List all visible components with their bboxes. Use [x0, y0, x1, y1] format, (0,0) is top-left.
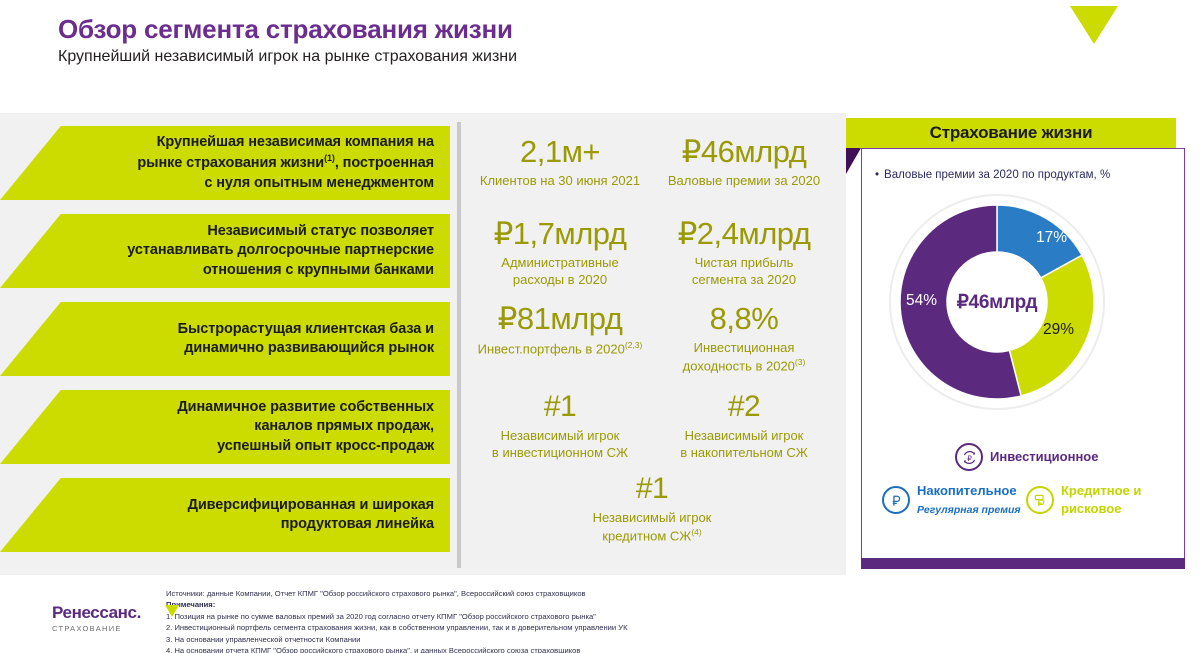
legend-credit-text: Кредитное и рисковое [1061, 482, 1141, 518]
credit-risk-icon [1026, 486, 1054, 514]
legend-savings-sublabel: Регулярная премия [917, 504, 1021, 516]
stat-investment-yield-label: Инвестиционнаядоходность в 2020(3) [654, 340, 834, 375]
stat-rank-investment-value: #1 [470, 392, 650, 422]
banner-4-line-2: каналов прямых продаж, [254, 418, 434, 434]
banner-4-line-1: Динамичное развитие собственных [177, 399, 434, 415]
stat-admin-expenses-label: Административныерасходы в 2020 [470, 255, 650, 288]
page-subtitle: Крупнейший независимый игрок на рынке ст… [58, 48, 517, 66]
stat-admin-expenses-value: ₽1,7млрд [470, 218, 650, 249]
legend-savings-text: Накопительное Регулярная премия [917, 482, 1021, 518]
banner-1-line-2: рынке страхования жизни [137, 155, 324, 171]
svg-text:₽: ₽ [967, 453, 972, 462]
stat-net-profit-value: ₽2,4млрд [654, 218, 834, 249]
banner-3-line-2: динамично развивающийся рынок [184, 340, 434, 356]
stat-investment-portfolio: ₽81млрд Инвест.портфель в 2020(2,3) [470, 303, 650, 358]
footnote-item-1: 1. Позиция на рынке по сумме валовых пре… [166, 611, 1066, 622]
bullet-dot-icon: • [875, 169, 879, 181]
card-fold-decoration [846, 148, 861, 174]
stat-clients: 2,1м+ Клиентов на 30 июня 2021 [470, 136, 650, 190]
banner-2-line-1: Независимый статус позволяет [207, 223, 434, 239]
stat-rank-savings-value: #2 [654, 392, 834, 422]
donut-label-credit: 29% [1043, 321, 1074, 339]
chart-bullet-label: •Валовые премии за 2020 по продуктам, % [875, 169, 1110, 181]
banner-2-line-2: устанавливать долгосрочные партнерские [127, 242, 434, 258]
legend-item-savings: Накопительное Регулярная премия [882, 482, 1021, 518]
stat-clients-value: 2,1м+ [470, 136, 650, 167]
highlight-banner-5-text: Диверсифицированная и широкая продуктова… [188, 496, 434, 535]
footnote-item-2: 2. Инвестиционный портфель сегмента стра… [166, 622, 1066, 633]
highlight-banner-3-text: Быстрорастущая клиентская база и динамич… [178, 320, 434, 359]
banner-1-line-1: Крупнейшая независимая компания на [157, 134, 434, 150]
stat-investment-portfolio-label: Инвест.портфель в 2020(2,3) [470, 340, 650, 358]
stat-rank-investment: #1 Независимый игрокв инвестиционном СЖ [470, 392, 650, 461]
stat-investment-portfolio-value: ₽81млрд [470, 303, 650, 334]
highlight-banner-2: Независимый статус позволяет устанавлива… [0, 214, 450, 288]
stat-rank-savings: #2 Независимый игрокв накопительном СЖ [654, 392, 834, 461]
investment-icon: ₽ [955, 443, 983, 471]
stat-rank-credit-label: Независимый игроккредитном СЖ(4) [562, 510, 742, 545]
stat-gross-premiums-value: ₽46млрд [654, 136, 834, 167]
highlight-banner-2-text: Независимый статус позволяет устанавлива… [127, 222, 434, 280]
banner-1-line-3: с нуля опытным менеджментом [204, 175, 434, 191]
highlight-banner-5: Диверсифицированная и широкая продуктова… [0, 478, 450, 552]
footnote-item-4: 4. На основании отчета КПМГ "Обзор росси… [166, 645, 1066, 653]
logo-sublabel: СТРАХОВАНИЕ [52, 624, 141, 633]
banner-1-footnote-ref: (1) [324, 153, 335, 163]
ruble-savings-icon [882, 486, 910, 514]
donut-center: ₽46млрд [947, 252, 1047, 352]
banner-5-line-2: продуктовая линейка [281, 516, 434, 532]
banner-5-line-1: Диверсифицированная и широкая [188, 497, 434, 513]
chart-bullet-text: Валовые премии за 2020 по продуктам, % [884, 169, 1110, 181]
slide-root: Обзор сегмента страхования жизни Крупней… [0, 0, 1200, 653]
legend-savings-label: Накопительное [917, 483, 1017, 498]
page-title: Обзор сегмента страхования жизни [58, 14, 513, 45]
stat-admin-expenses: ₽1,7млрд Административныерасходы в 2020 [470, 218, 650, 288]
column-divider [457, 122, 461, 568]
highlight-banner-4-text: Динамичное развитие собственных каналов … [177, 398, 434, 456]
stat-investment-yield: 8,8% Инвестиционнаядоходность в 2020(3) [654, 303, 834, 375]
legend-credit-label-2: рисковое [1061, 501, 1121, 516]
legend-credit-label: Кредитное и [1061, 483, 1141, 498]
stat-5-footnote-ref: (3) [795, 357, 805, 367]
banner-1-line-2b: , построенная [335, 155, 434, 171]
stat-rank-savings-label: Независимый игрокв накопительном СЖ [654, 428, 834, 461]
stat-8-footnote-ref: (4) [691, 527, 701, 537]
donut-label-savings: 17% [1036, 229, 1067, 247]
highlight-banner-1: Крупнейшая независимая компания на рынке… [0, 126, 450, 200]
stat-investment-yield-value: 8,8% [654, 303, 834, 334]
chart-card-title: Страхование жизни [930, 123, 1093, 143]
banner-3-line-1: Быстрорастущая клиентская база и [178, 321, 434, 337]
legend-item-investment: ₽ Инвестиционное [955, 443, 1098, 471]
legend-investment-label: Инвестиционное [990, 450, 1098, 465]
stat-gross-premiums: ₽46млрд Валовые премии за 2020 [654, 136, 834, 190]
donut-center-value: ₽46млрд [957, 291, 1037, 314]
stat-gross-premiums-label: Валовые премии за 2020 [654, 173, 834, 190]
company-logo: Ренессанс. СТРАХОВАНИЕ [52, 603, 141, 633]
card-footer-bar [861, 558, 1185, 569]
stat-rank-credit: #1 Независимый игроккредитном СЖ(4) [562, 474, 742, 545]
donut-chart: ₽46млрд 17% 29% 54% [888, 193, 1106, 411]
legend-item-credit: Кредитное и рисковое [1026, 482, 1141, 518]
highlight-banner-3: Быстрорастущая клиентская база и динамич… [0, 302, 450, 376]
highlight-banner-1-text: Крупнейшая независимая компания на рынке… [137, 133, 434, 193]
chart-card-header: Страхование жизни [846, 118, 1176, 148]
footnote-item-3: 3. На основании управленческой отчетност… [166, 634, 1066, 645]
footnotes: Источники: данные Компании, Отчет КПМГ "… [166, 588, 1066, 653]
footnote-sources: Источники: данные Компании, Отчет КПМГ "… [166, 588, 1066, 599]
logo-name: Ренессанс. [52, 603, 141, 623]
logo-triangle-icon [165, 605, 179, 617]
stat-rank-credit-value: #1 [562, 474, 742, 504]
stat-clients-label: Клиентов на 30 июня 2021 [470, 173, 650, 190]
banner-2-line-3: отношения с крупными банками [203, 262, 434, 278]
stat-rank-investment-label: Независимый игрокв инвестиционном СЖ [470, 428, 650, 461]
stat-net-profit: ₽2,4млрд Чистая прибыльсегмента за 2020 [654, 218, 834, 288]
highlight-banner-4: Динамичное развитие собственных каналов … [0, 390, 450, 464]
footnote-heading: Примечания: [166, 599, 1066, 610]
banner-4-line-3: успешный опыт кросс-продаж [217, 438, 434, 454]
donut-label-investment: 54% [906, 292, 937, 310]
triangle-accent-icon [1070, 6, 1118, 44]
stat-net-profit-label: Чистая прибыльсегмента за 2020 [654, 255, 834, 288]
stat-4-footnote-ref: (2,3) [625, 340, 642, 350]
